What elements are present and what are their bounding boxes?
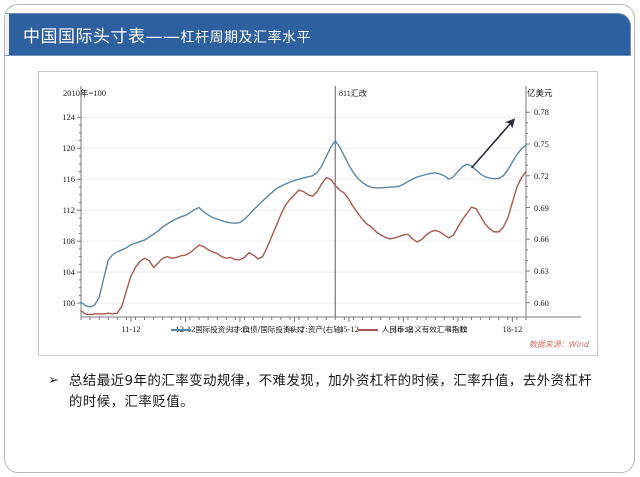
legend-item-0[interactable]: 国际投资头寸:负债/国际投资头寸:资产(右轴): [171, 324, 343, 335]
annotation-811-reform: 811汇改: [339, 88, 367, 99]
left-axis-tick: 100: [53, 298, 75, 308]
left-axis-tick: 120: [53, 143, 75, 153]
left-axis-tick: 108: [53, 236, 75, 246]
left-axis-tick: 116: [53, 174, 75, 184]
legend-label: 国际投资头寸:负债/国际投资头寸:资产(右轴): [195, 324, 343, 335]
page-title-sub: 杠杆周期及汇率水平: [181, 30, 312, 46]
page-title: 中国国际头寸表——杠杆周期及汇率水平: [23, 22, 311, 47]
slide-canvas: 中国国际头寸表——杠杆周期及汇率水平 2010年=100 亿美元 811汇改 1…: [0, 0, 640, 477]
summary-bullet: ➢ 总结最近9年的汇率变动规律，不难发现，加外资杠杆的时候，汇率升值，去外资杠杆…: [48, 371, 593, 414]
legend-item-1[interactable]: 人民币:名义有效汇率指数: [358, 324, 467, 335]
right-axis-tick: 0.69: [534, 203, 560, 213]
right-axis-tick: 0.72: [534, 171, 560, 181]
title-left-accent: [5, 14, 9, 55]
right-axis-tick: 0.75: [534, 139, 560, 149]
chart-legend: 国际投资头寸:负债/国际投资头寸:资产(右轴)人民币:名义有效汇率指数: [39, 324, 599, 335]
right-axis-tick: 0.60: [534, 298, 560, 308]
right-axis-tick: 0.78: [534, 107, 560, 117]
legend-label: 人民币:名义有效汇率指数: [382, 324, 467, 335]
bullet-arrow-icon: ➢: [48, 371, 59, 391]
right-axis-tick: 0.66: [534, 234, 560, 244]
legend-swatch-icon: [358, 329, 378, 331]
page-title-main: 中国国际头寸表——: [23, 27, 181, 47]
right-axis-tick: 0.63: [534, 266, 560, 276]
summary-text: 总结最近9年的汇率变动规律，不难发现，加外资杠杆的时候，汇率升值，去外资杠杆的时…: [69, 371, 593, 414]
chart-container: 2010年=100 亿美元 811汇改 10010410811211612012…: [38, 71, 598, 356]
data-source-label: 数据来源：Wind: [529, 339, 589, 350]
right-axis-unit-label: 亿美元: [527, 87, 553, 99]
left-axis-unit-label: 2010年=100: [63, 87, 106, 99]
legend-swatch-icon: [171, 329, 191, 331]
left-axis-tick: 112: [53, 205, 75, 215]
slide-title-bar: 中国国际头寸表——杠杆周期及汇率水平: [5, 13, 631, 56]
left-axis-tick: 104: [53, 267, 75, 277]
left-axis-tick: 124: [53, 112, 75, 122]
line-chart-plot: [39, 72, 599, 357]
